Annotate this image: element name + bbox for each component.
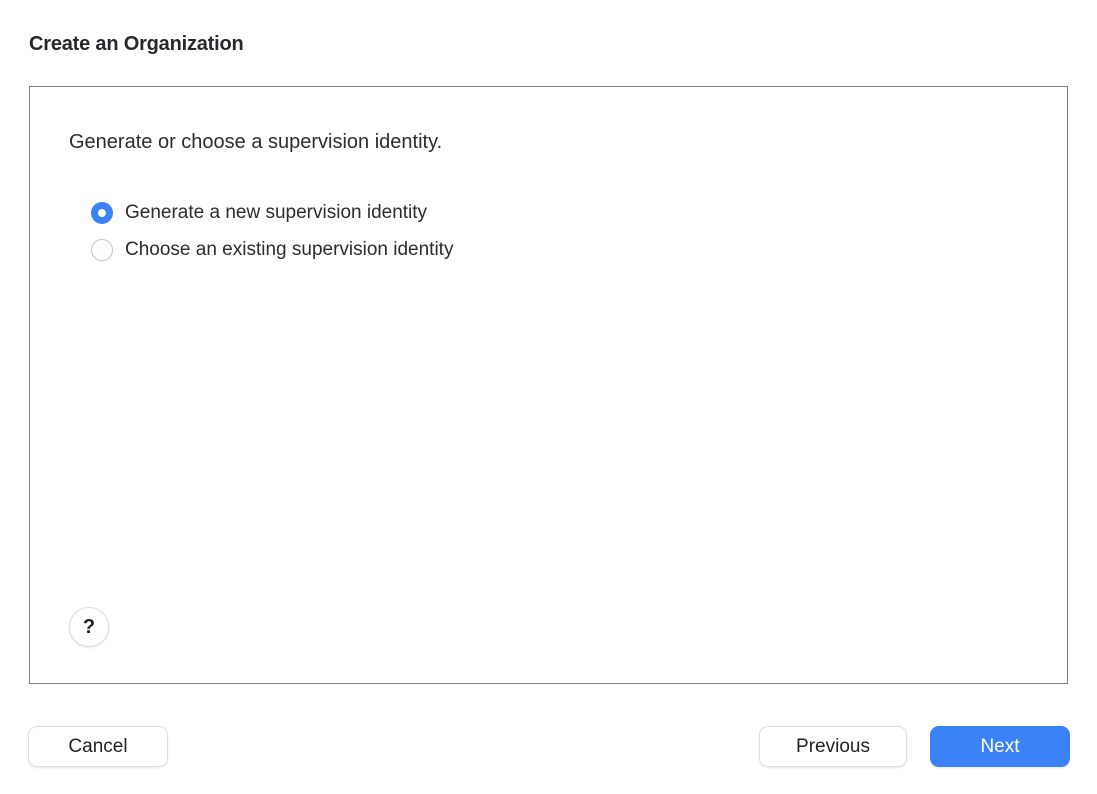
cancel-button[interactable]: Cancel <box>28 726 168 767</box>
dialog-footer: Cancel Previous Next <box>0 724 1097 772</box>
help-button[interactable]: ? <box>69 607 109 647</box>
page-title: Create an Organization <box>29 30 244 58</box>
radio-button-selected-icon[interactable] <box>91 202 113 224</box>
radio-option-label: Generate a new supervision identity <box>125 201 427 225</box>
panel-prompt-text: Generate or choose a supervision identit… <box>69 129 442 155</box>
question-mark-icon: ? <box>83 617 95 637</box>
previous-button[interactable]: Previous <box>759 726 907 767</box>
radio-option-choose-existing[interactable]: Choose an existing supervision identity <box>91 238 453 262</box>
next-button[interactable]: Next <box>930 726 1070 767</box>
radio-option-label: Choose an existing supervision identity <box>125 238 453 262</box>
wizard-content-panel: Generate or choose a supervision identit… <box>29 86 1068 684</box>
supervision-identity-radio-group[interactable]: Generate a new supervision identity Choo… <box>91 201 453 262</box>
radio-option-generate-new[interactable]: Generate a new supervision identity <box>91 201 453 225</box>
radio-button-unselected-icon[interactable] <box>91 239 113 261</box>
